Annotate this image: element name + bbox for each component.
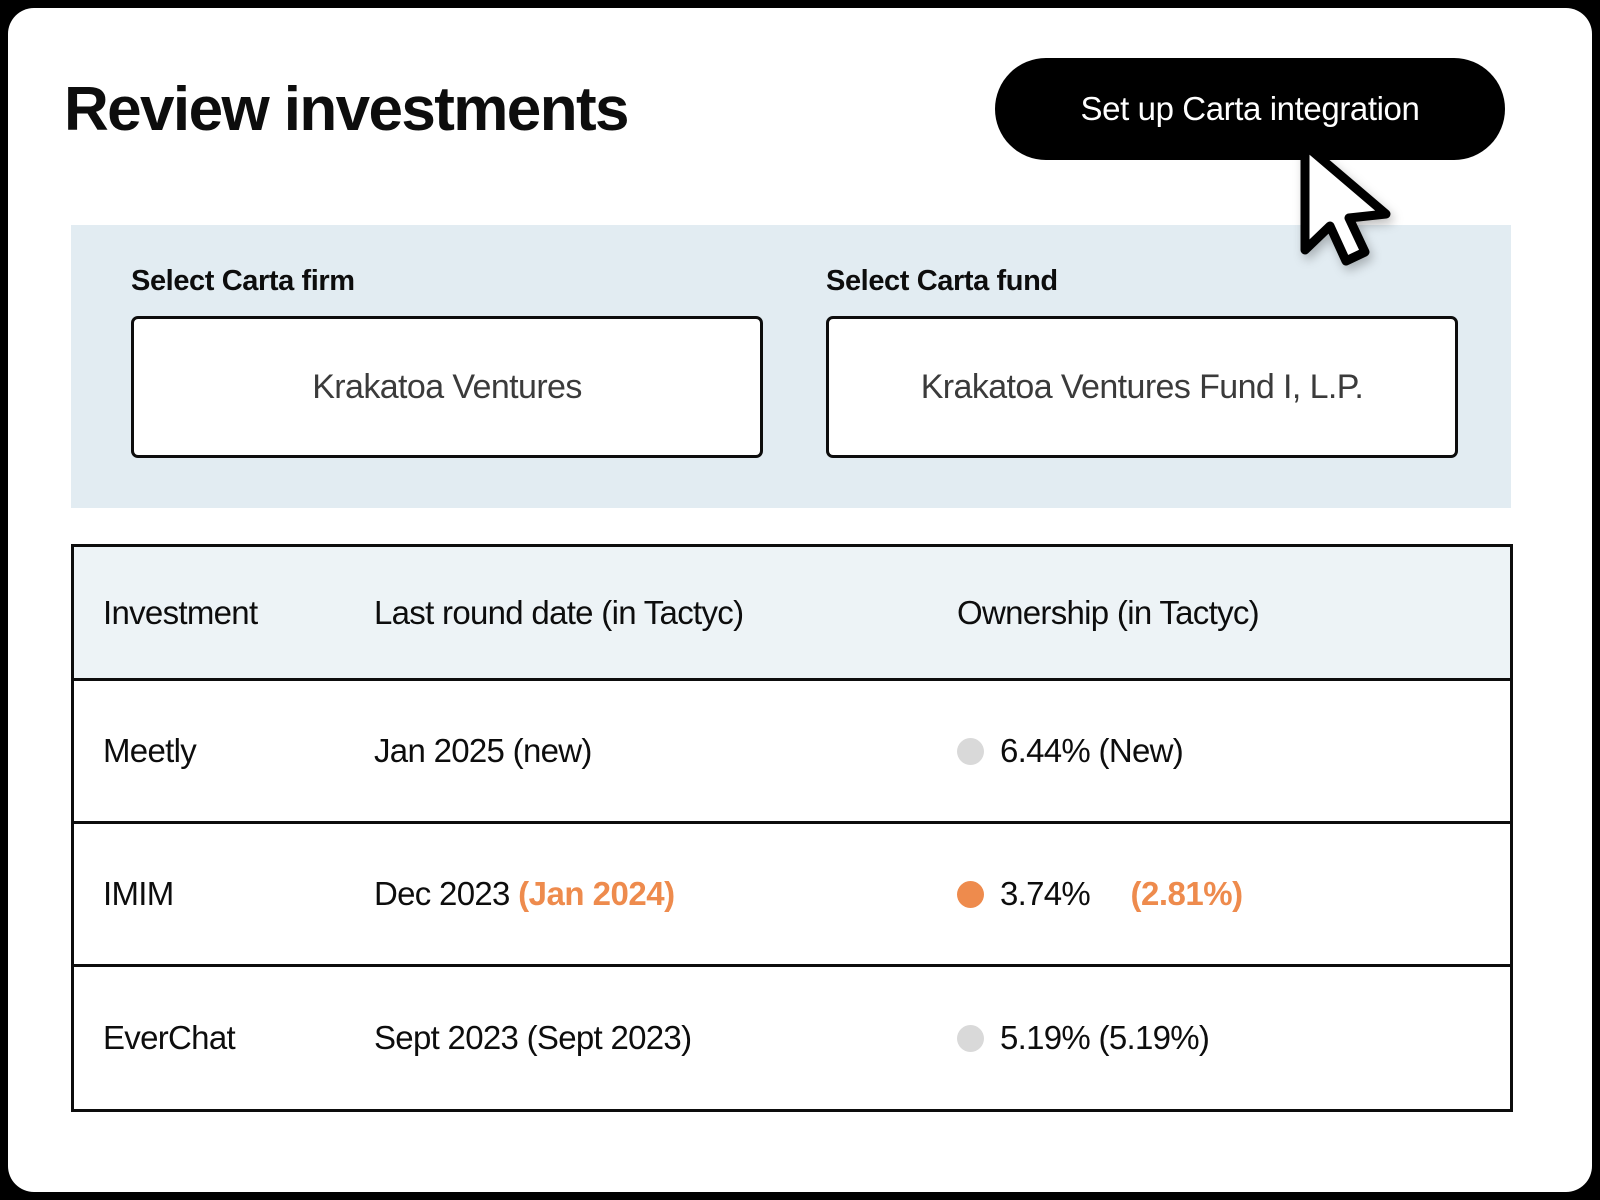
table-row[interactable]: Meetly Jan 2025 (new) 6.44% (New) <box>74 681 1510 824</box>
select-carta-firm-input[interactable]: Krakatoa Ventures <box>131 316 763 458</box>
content-card: Review investments Set up Carta integrat… <box>8 8 1592 1192</box>
date-main-text: Sept 2023 (Sept 2023) <box>374 1019 691 1056</box>
cell-last-round-date: Sept 2023 (Sept 2023) <box>374 1019 957 1057</box>
ownership-status-dot-icon <box>957 881 984 908</box>
ownership-main-text: 5.19% (5.19%) <box>1000 1019 1209 1057</box>
cell-investment-name: EverChat <box>74 1019 374 1057</box>
select-carta-fund-input[interactable]: Krakatoa Ventures Fund I, L.P. <box>826 316 1458 458</box>
ownership-highlight-text: (2.81%) <box>1131 875 1243 913</box>
select-carta-firm-field: Select Carta firm Krakatoa Ventures <box>131 265 763 458</box>
select-carta-fund-label: Select Carta fund <box>826 265 1458 298</box>
table-row[interactable]: IMIM Dec 2023 (Jan 2024) 3.74% (2.81%) <box>74 824 1510 967</box>
investments-table: Investment Last round date (in Tactyc) O… <box>71 544 1513 1112</box>
cell-last-round-date: Dec 2023 (Jan 2024) <box>374 875 957 913</box>
page-title: Review investments <box>64 74 628 145</box>
cell-investment-name: Meetly <box>74 732 374 770</box>
cell-ownership: 3.74% (2.81%) <box>957 875 1510 913</box>
ownership-main-text: 6.44% (New) <box>1000 732 1183 770</box>
table-row[interactable]: EverChat Sept 2023 (Sept 2023) 5.19% (5.… <box>74 967 1510 1109</box>
select-carta-fund-field: Select Carta fund Krakatoa Ventures Fund… <box>826 265 1458 458</box>
cell-investment-name: IMIM <box>74 875 374 913</box>
column-header-investment: Investment <box>74 594 374 632</box>
column-header-ownership: Ownership (in Tactyc) <box>957 594 1510 632</box>
ownership-status-dot-icon <box>957 1025 984 1052</box>
select-carta-firm-label: Select Carta firm <box>131 265 763 298</box>
ownership-main-text: 3.74% <box>1000 875 1090 913</box>
cell-ownership: 6.44% (New) <box>957 732 1510 770</box>
screenshot-root: Review investments Set up Carta integrat… <box>0 0 1600 1200</box>
cell-ownership: 5.19% (5.19%) <box>957 1019 1510 1057</box>
cell-last-round-date: Jan 2025 (new) <box>374 732 957 770</box>
date-main-text: Dec 2023 <box>374 875 510 912</box>
setup-carta-integration-button[interactable]: Set up Carta integration <box>995 58 1505 160</box>
date-main-text: Jan 2025 (new) <box>374 732 592 769</box>
ownership-status-dot-icon <box>957 738 984 765</box>
date-highlight-text: (Jan 2024) <box>518 875 674 912</box>
carta-selection-panel: Select Carta firm Krakatoa Ventures Sele… <box>71 225 1511 508</box>
column-header-last-round-date: Last round date (in Tactyc) <box>374 594 957 632</box>
table-header-row: Investment Last round date (in Tactyc) O… <box>74 547 1510 681</box>
